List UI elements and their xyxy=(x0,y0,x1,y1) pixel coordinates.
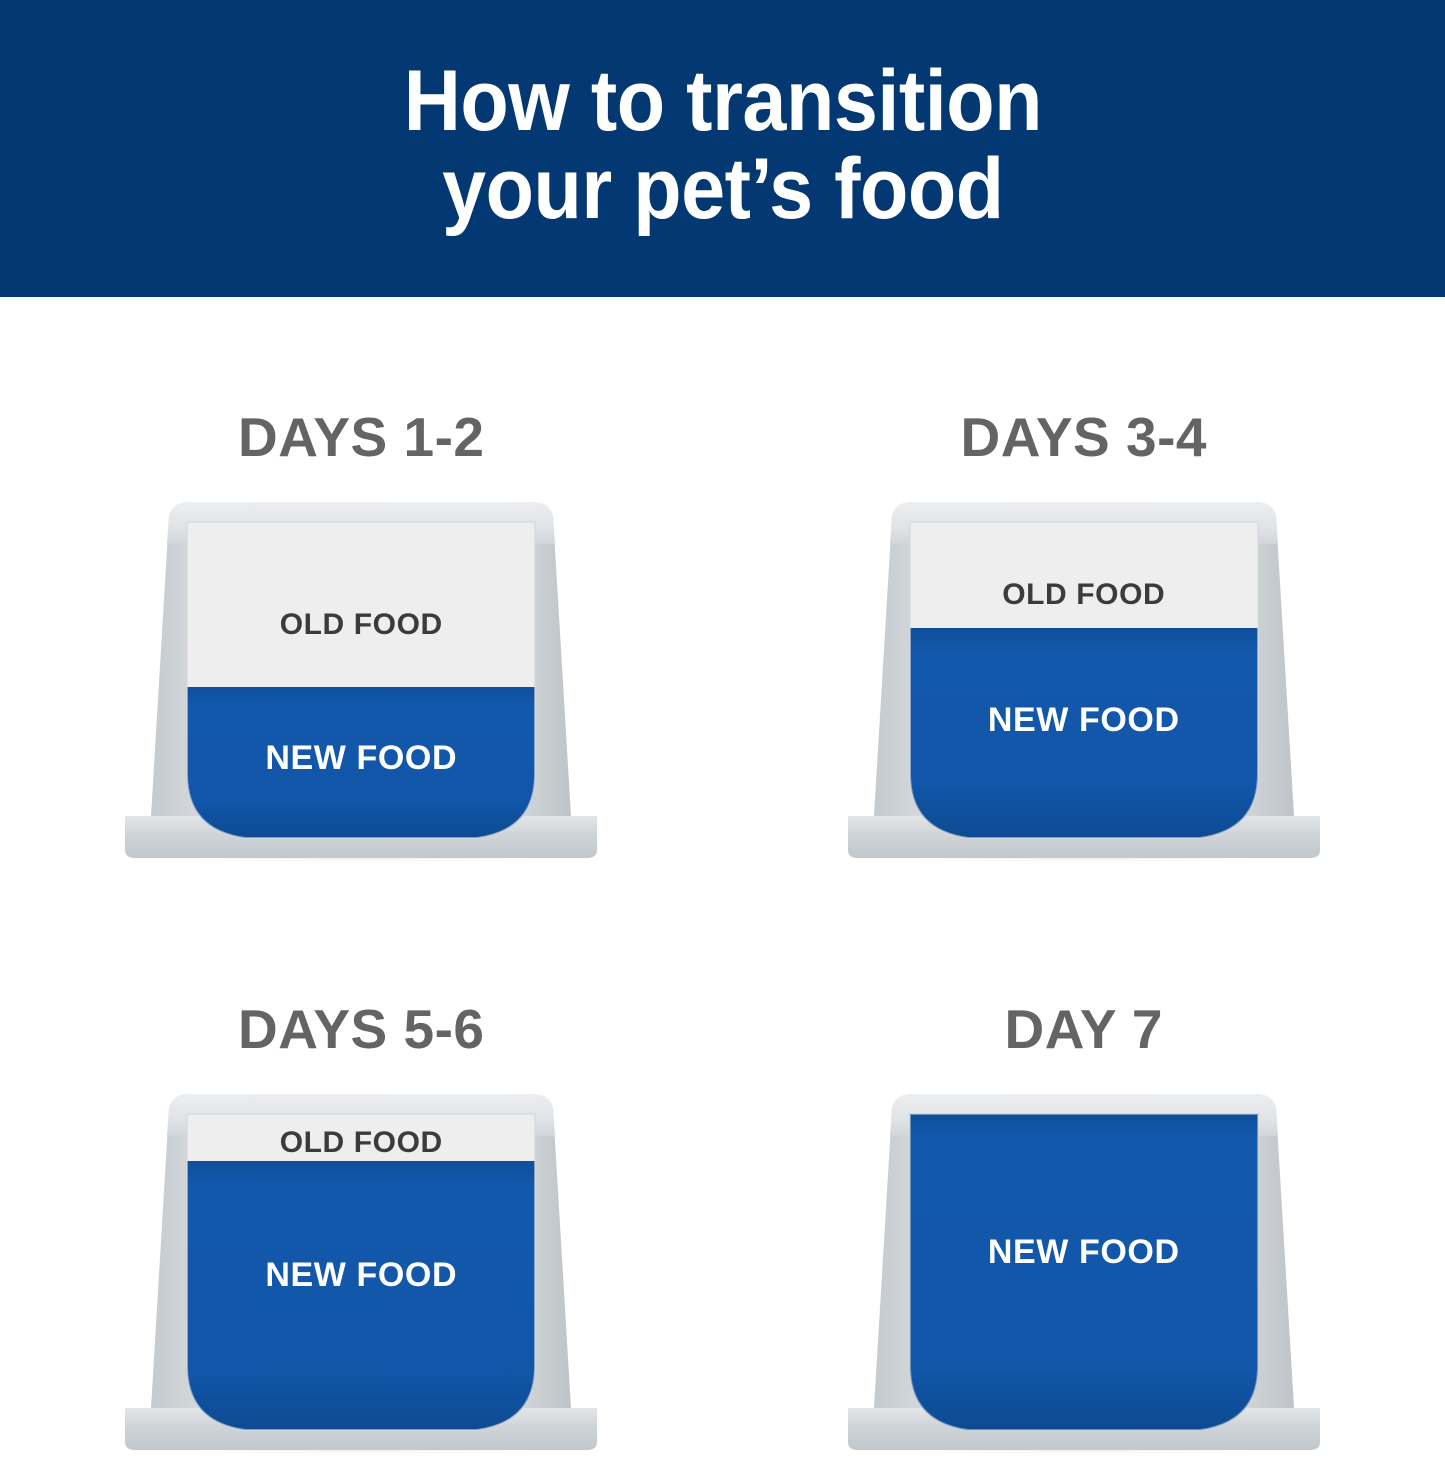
bowl-day-7: NEW FOOD xyxy=(764,1078,1404,1478)
page-title: How to transition your pet’s food xyxy=(403,58,1041,233)
panel-days-3-4: DAYS 3-4 xyxy=(723,297,1445,886)
bowl-grid: DAYS 1-2 xyxy=(0,297,1445,1445)
panel-days-1-2: DAYS 1-2 xyxy=(0,297,723,886)
bowl-illustration xyxy=(764,1078,1404,1478)
panel-label-days-5-6: DAYS 5-6 xyxy=(238,994,485,1064)
panel-label-days-1-2: DAYS 1-2 xyxy=(238,402,485,472)
header-banner: How to transition your pet’s food xyxy=(0,0,1445,297)
bowl-days-5-6: OLD FOOD NEW FOOD xyxy=(41,1078,681,1478)
panel-days-5-6: DAYS 5-6 xyxy=(0,886,723,1478)
bowl-illustration xyxy=(41,1078,681,1478)
panel-label-day-7: DAY 7 xyxy=(1005,994,1163,1064)
bowl-days-3-4: OLD FOOD NEW FOOD xyxy=(764,486,1404,886)
bowl-days-1-2: OLD FOOD NEW FOOD xyxy=(41,486,681,886)
bowl-illustration xyxy=(764,486,1404,886)
panel-label-days-3-4: DAYS 3-4 xyxy=(960,402,1207,472)
panel-day-7: DAY 7 xyxy=(723,886,1445,1478)
bowl-illustration xyxy=(41,486,681,886)
